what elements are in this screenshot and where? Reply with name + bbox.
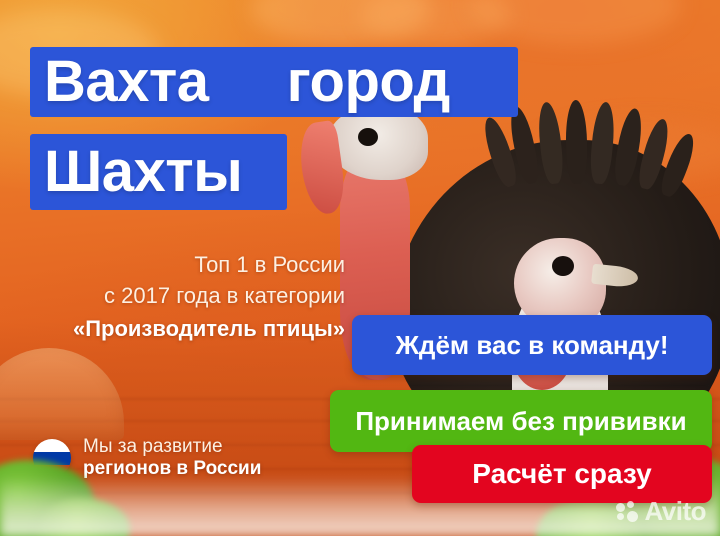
turkey-eye-left — [358, 128, 378, 146]
regions-line1: Мы за развитие — [83, 436, 261, 458]
cta-blue-label: Ждём вас в команду! — [395, 330, 668, 361]
avito-wordmark: Avito — [644, 498, 706, 524]
cta-red-label: Расчёт сразу — [472, 458, 651, 490]
tagline-line1: Топ 1 в России — [0, 250, 345, 280]
headline-text-line2: Шахты — [30, 143, 256, 201]
avito-watermark: Avito — [616, 498, 706, 524]
headline-band-line2: Шахты — [30, 134, 287, 210]
cta-blue-button[interactable]: Ждём вас в команду! — [352, 315, 712, 375]
tagline-line3: «Производитель птицы» — [0, 312, 345, 346]
cloud-shape — [470, 0, 680, 44]
advertisement-banner: Вахта город Шахты Топ 1 в России с 2017 … — [0, 0, 720, 536]
turkey-head-left — [328, 106, 428, 180]
tagline-line2: с 2017 года в категории — [0, 280, 345, 312]
tagline-block: Топ 1 в России с 2017 года в категории «… — [0, 250, 345, 346]
cta-green-label: Принимаем без прививки — [355, 406, 686, 437]
cta-green-button[interactable]: Принимаем без прививки — [330, 390, 712, 452]
flag-stripe-white — [33, 439, 71, 452]
avito-dots-logo-icon — [616, 501, 639, 522]
turkey-feather — [565, 100, 587, 184]
headline-text-line1: Вахта город — [30, 53, 464, 111]
regions-text: Мы за развитие регионов в России — [83, 436, 261, 481]
cta-red-button[interactable]: Расчёт сразу — [412, 445, 712, 503]
headline-band-line1: Вахта город — [30, 47, 518, 117]
turkey-eye-right — [552, 256, 574, 276]
